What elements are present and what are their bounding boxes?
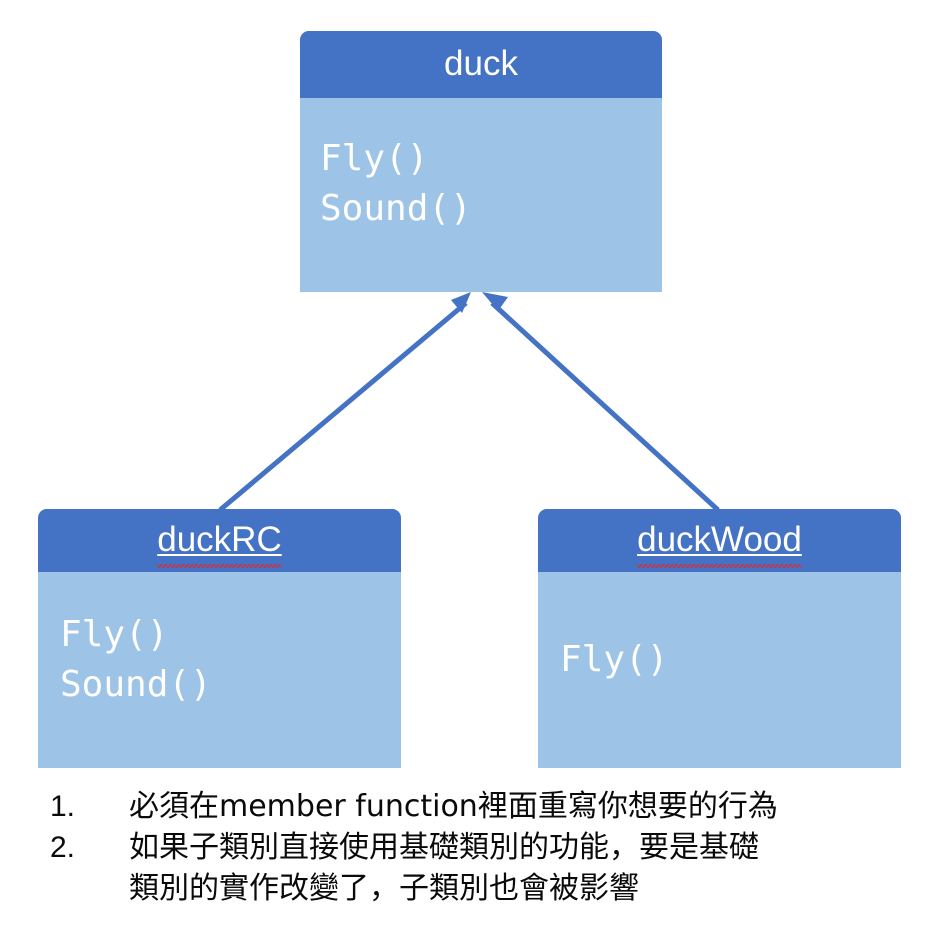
notes-list: 1. 必須在member function裡面重寫你想要的行為 2. 如果子類別…	[50, 786, 930, 909]
class-method: Fly()	[60, 610, 401, 660]
class-title-duckrc: duckRC	[157, 522, 281, 559]
inheritance-arrow-duckwood-to-duck	[482, 292, 718, 510]
class-box-duckwood[interactable]: duckWood Fly()	[538, 509, 901, 768]
class-body-duckrc: Fly() Sound()	[38, 572, 401, 709]
class-title-duckwood: duckWood	[637, 522, 802, 559]
class-header-duck: duck	[300, 31, 662, 98]
class-header-duckwood: duckWood	[538, 509, 901, 572]
class-body-duck: Fly() Sound()	[300, 98, 662, 233]
note-text: 必須在member function裡面重寫你想要的行為	[129, 786, 930, 827]
note-item-1: 1. 必須在member function裡面重寫你想要的行為	[50, 786, 930, 827]
class-header-duckrc: duckRC	[38, 509, 401, 572]
note-text-continuation: 類別的實作改變了，子類別也會被影響	[50, 868, 930, 909]
note-item-2: 2. 如果子類別直接使用基礎類別的功能，要是基礎	[50, 827, 930, 868]
class-method: Fly()	[560, 635, 901, 685]
note-number: 2.	[50, 827, 129, 868]
class-box-duck[interactable]: duck Fly() Sound()	[300, 31, 662, 292]
spellcheck-squiggle-icon	[157, 564, 281, 568]
class-title-duck: duck	[444, 46, 518, 83]
inheritance-arrow-duckrc-to-duck	[220, 292, 471, 510]
class-box-duckrc[interactable]: duckRC Fly() Sound()	[38, 509, 401, 768]
class-method: Sound()	[60, 660, 401, 710]
class-method: Fly()	[320, 134, 662, 184]
note-text: 如果子類別直接使用基礎類別的功能，要是基礎	[129, 827, 930, 868]
class-method: Sound()	[320, 184, 662, 234]
note-number: 1.	[50, 786, 129, 827]
class-body-duckwood: Fly()	[538, 572, 901, 685]
spellcheck-squiggle-icon	[637, 564, 802, 568]
